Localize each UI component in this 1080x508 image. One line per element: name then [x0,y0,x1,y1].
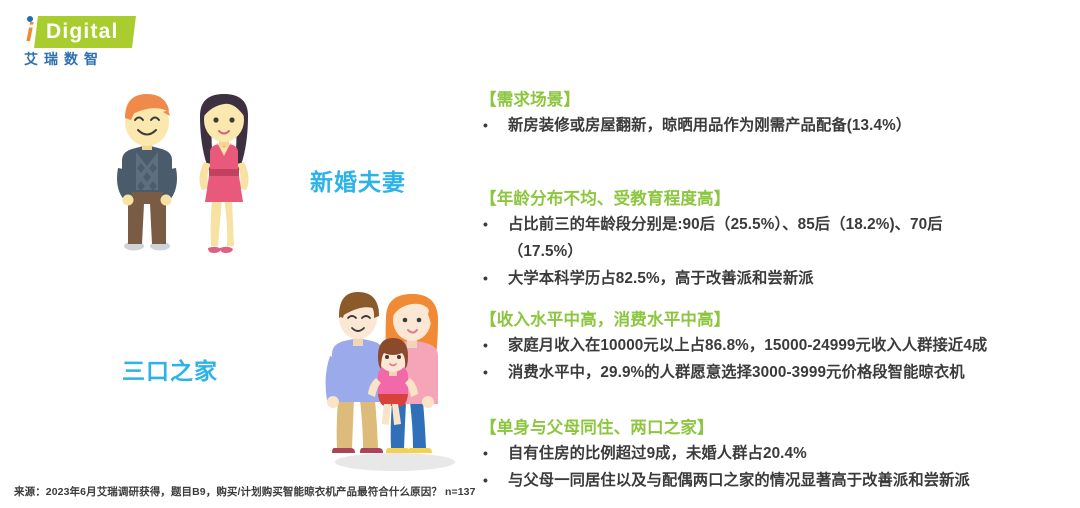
list-item: 家庭月收入在10000元以上占86.8%，15000-24999元收入人群接近4… [480,332,1080,359]
logo-wordmark: Digital [46,20,119,44]
list-item: 大学本科学历占82.5%，高于改善派和尝新派 [480,265,1080,292]
idigital-logo: i Digital 艾瑞数智 [14,14,139,70]
block-title: 【年龄分布不均、受教育程度高】 [480,187,1080,211]
family-illustration [318,278,473,478]
list-item: 占比前三的年龄段分别是:90后（25.5%）、85后（18.2%)、70后 [480,211,1080,238]
couple-illustration [100,80,280,260]
block-title: 【需求场景】 [480,88,1080,112]
bullet-list: 占比前三的年龄段分别是:90后（25.5%）、85后（18.2%)、70后 （1… [480,211,1080,292]
bullet-list: 家庭月收入在10000元以上占86.8%，15000-24999元收入人群接近4… [480,332,1080,386]
list-item: 新房装修或房屋翻新，晾晒用品作为刚需产品配备(13.4%） [480,112,1080,139]
block-spacer [480,143,1080,187]
list-item: 与父母一同居住以及与配偶两口之家的情况显著高于改善派和尝新派 [480,467,1080,494]
list-item: 自有住房的比例超过9成，未婚人群占20.4% [480,440,1080,467]
source-note: 来源：2023年6月艾瑞调研获得，题目B9，购买/计划购买智能晾衣机产品最符合什… [14,484,476,499]
insight-block-household: 【单身与父母同住、两口之家】 自有住房的比例超过9成，未婚人群占20.4% 与父… [480,416,1080,494]
list-item: 消费水平中，29.9%的人群愿意选择3000-3999元价格段智能晾衣机 [480,359,1080,386]
insights-content: 【需求场景】 新房装修或房屋翻新，晾晒用品作为刚需产品配备(13.4%） 【年龄… [480,88,1080,498]
block-title: 【收入水平中高，消费水平中高】 [480,308,1080,332]
logo-chinese-name: 艾瑞数智 [24,50,104,68]
list-item-continuation: （17.5%） [480,238,1080,265]
segment-label-newlywed-couple: 新婚夫妻 [310,163,406,197]
bullet-list: 自有住房的比例超过9成，未婚人群占20.4% 与父母一同居住以及与配偶两口之家的… [480,440,1080,494]
bullet-list: 新房装修或房屋翻新，晾晒用品作为刚需产品配备(13.4%） [480,112,1080,139]
woman-figure [199,94,248,253]
insight-block-demand-scenario: 【需求场景】 新房装修或房屋翻新，晾晒用品作为刚需产品配备(13.4%） [480,88,1080,139]
slide-canvas: i Digital 艾瑞数智 [0,0,1080,508]
logo-i-letter: i [26,19,33,45]
block-title: 【单身与父母同住、两口之家】 [480,416,1080,440]
man-figure [117,94,177,251]
insight-block-income-consumption: 【收入水平中高，消费水平中高】 家庭月收入在10000元以上占86.8%，150… [480,308,1080,386]
segment-label-family-of-three: 三口之家 [122,352,218,386]
insight-block-age-education: 【年龄分布不均、受教育程度高】 占比前三的年龄段分别是:90后（25.5%）、8… [480,187,1080,292]
block-spacer [480,296,1080,308]
block-spacer [480,390,1080,416]
